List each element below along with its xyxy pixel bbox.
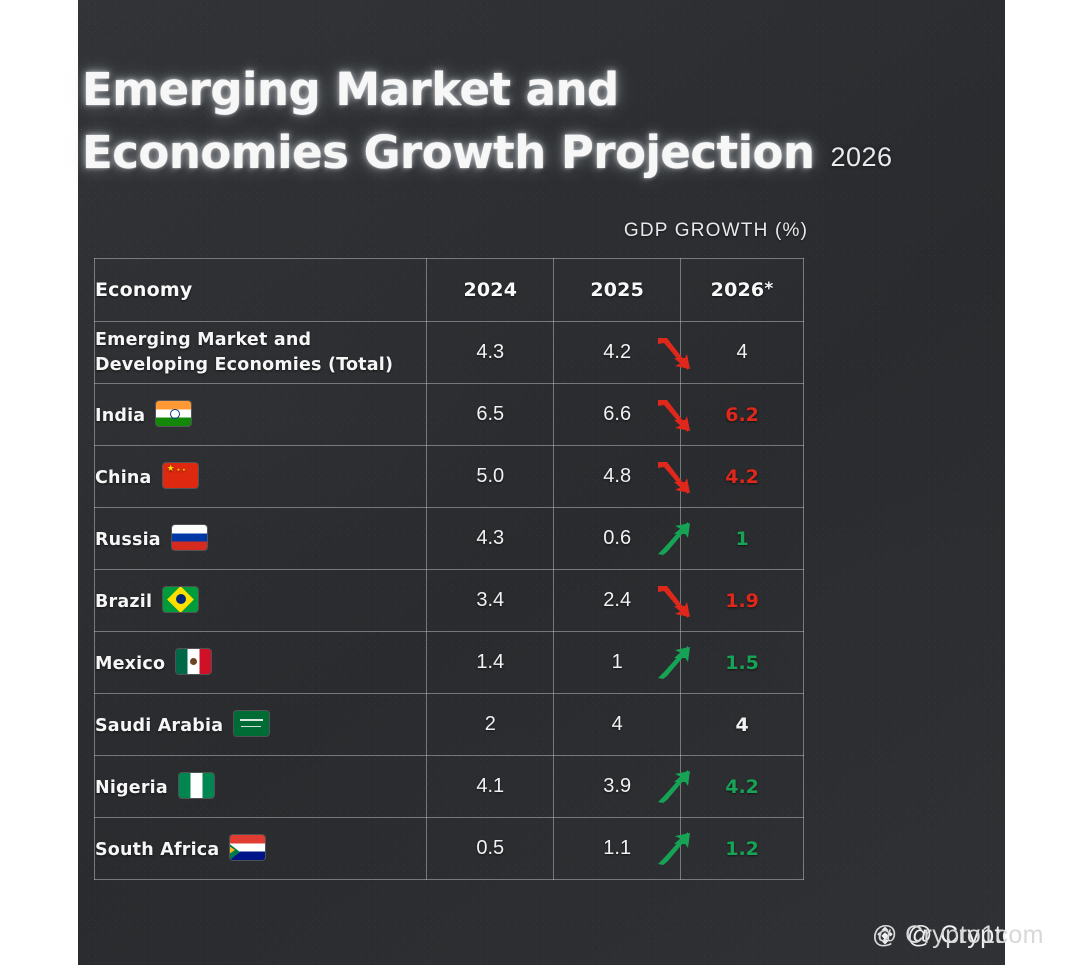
country-flag-icon xyxy=(172,525,207,550)
title-line-2-text: Economies Growth Projection xyxy=(82,126,815,179)
cell-2026: 1 xyxy=(681,508,804,570)
cell-economy: Emerging Market andDeveloping Economies … xyxy=(95,322,427,384)
column-header-2026-asterisk: * xyxy=(764,279,773,299)
column-header-economy: Economy xyxy=(95,259,427,322)
table-row: Saudi Arabia244 xyxy=(95,694,804,756)
value-2026: 4.2 xyxy=(725,466,759,488)
cell-economy: Nigeria xyxy=(95,756,427,818)
country-flag-icon xyxy=(179,773,214,798)
cell-2026: 1.9 xyxy=(681,570,804,632)
country-flag-icon xyxy=(156,401,191,426)
gdp-growth-caption: GDP GROWTH (%) xyxy=(546,220,886,242)
country-flag-icon xyxy=(234,711,269,736)
country-flag-icon xyxy=(163,463,198,488)
cell-2024: 4.3 xyxy=(427,322,554,384)
cell-economy: Brazil xyxy=(95,570,427,632)
cell-2024: 1.4 xyxy=(427,632,554,694)
economy-name: Mexico xyxy=(95,654,165,674)
watermark-ghost-text: @ Crypto1com xyxy=(872,921,1044,950)
table-row: Mexico1.411.5 xyxy=(95,632,804,694)
title-line-1: Emerging Market and xyxy=(82,58,902,121)
cell-2025: 2.4 xyxy=(554,570,681,632)
cell-2024: 6.5 xyxy=(427,384,554,446)
column-header-2026: 2026* xyxy=(681,259,804,322)
gdp-growth-table: Economy 2024 2025 2026* Emerging Market … xyxy=(94,258,804,880)
cell-2026: 4.2 xyxy=(681,446,804,508)
value-2026: 6.2 xyxy=(725,404,759,426)
table-row: Russia4.30.61 xyxy=(95,508,804,570)
cell-2026: 1.2 xyxy=(681,818,804,880)
economy-name-line2: Developing Economies (Total) xyxy=(95,355,393,375)
economy-name: Nigeria xyxy=(95,778,168,798)
economy-name: Saudi Arabia xyxy=(95,716,223,736)
table-row: Brazil3.42.41.9 xyxy=(95,570,804,632)
cell-2026: 4.2 xyxy=(681,756,804,818)
table-row: India6.56.66.2 xyxy=(95,384,804,446)
economy-name: Russia xyxy=(95,530,161,550)
cell-2026: 4 xyxy=(681,322,804,384)
value-2026: 1.5 xyxy=(725,652,759,674)
cell-2025: 1 xyxy=(554,632,681,694)
title-year: 2026 xyxy=(831,142,893,172)
cell-economy: China xyxy=(95,446,427,508)
country-flag-icon xyxy=(163,587,198,612)
cell-2026: 4 xyxy=(681,694,804,756)
cell-2026: 1.5 xyxy=(681,632,804,694)
table-row: Nigeria4.13.94.2 xyxy=(95,756,804,818)
column-header-2025: 2025 xyxy=(554,259,681,322)
watermark-ghost-area: @ Crypto1com xyxy=(1005,0,1080,965)
value-2026: 4 xyxy=(737,341,748,363)
economy-name: South Africa xyxy=(95,840,219,860)
table-header-row: Economy 2024 2025 2026* xyxy=(95,259,804,322)
cell-2025: 3.9 xyxy=(554,756,681,818)
value-2026: 1 xyxy=(735,528,748,550)
cell-2024: 3.4 xyxy=(427,570,554,632)
value-2026: 4 xyxy=(735,714,748,736)
cell-2024: 4.1 xyxy=(427,756,554,818)
table-row: Emerging Market andDeveloping Economies … xyxy=(95,322,804,384)
cell-economy: South Africa xyxy=(95,818,427,880)
country-flag-icon xyxy=(176,649,211,674)
value-2026: 1.9 xyxy=(725,590,759,612)
title-line-2: Economies Growth Projection2026 xyxy=(82,121,902,189)
cell-economy: Mexico xyxy=(95,632,427,694)
cell-2024: 5.0 xyxy=(427,446,554,508)
country-flag-icon xyxy=(230,835,265,860)
cell-2025: 4.8 xyxy=(554,446,681,508)
cell-2024: 0.5 xyxy=(427,818,554,880)
table-row: South Africa0.51.11.2 xyxy=(95,818,804,880)
cell-2025: 0.6 xyxy=(554,508,681,570)
cell-2024: 4.3 xyxy=(427,508,554,570)
value-2026: 1.2 xyxy=(725,838,759,860)
cell-2025: 4.2 xyxy=(554,322,681,384)
cell-economy: Russia xyxy=(95,508,427,570)
cell-2025: 4 xyxy=(554,694,681,756)
cell-2025: 6.6 xyxy=(554,384,681,446)
cell-2024: 2 xyxy=(427,694,554,756)
value-2026: 4.2 xyxy=(725,776,759,798)
economy-name: China xyxy=(95,468,152,488)
economy-name: Brazil xyxy=(95,592,152,612)
cell-economy: India xyxy=(95,384,427,446)
column-header-2026-year: 2026 xyxy=(711,279,765,301)
column-header-2024: 2024 xyxy=(427,259,554,322)
table-row: China5.04.84.2 xyxy=(95,446,804,508)
page-title: Emerging Market and Economies Growth Pro… xyxy=(82,58,902,189)
economy-name: Emerging Market and xyxy=(95,330,311,350)
table-body: Emerging Market andDeveloping Economies … xyxy=(95,322,804,880)
cell-economy: Saudi Arabia xyxy=(95,694,427,756)
cell-2026: 6.2 xyxy=(681,384,804,446)
cell-2025: 1.1 xyxy=(554,818,681,880)
economy-name: India xyxy=(95,406,145,426)
